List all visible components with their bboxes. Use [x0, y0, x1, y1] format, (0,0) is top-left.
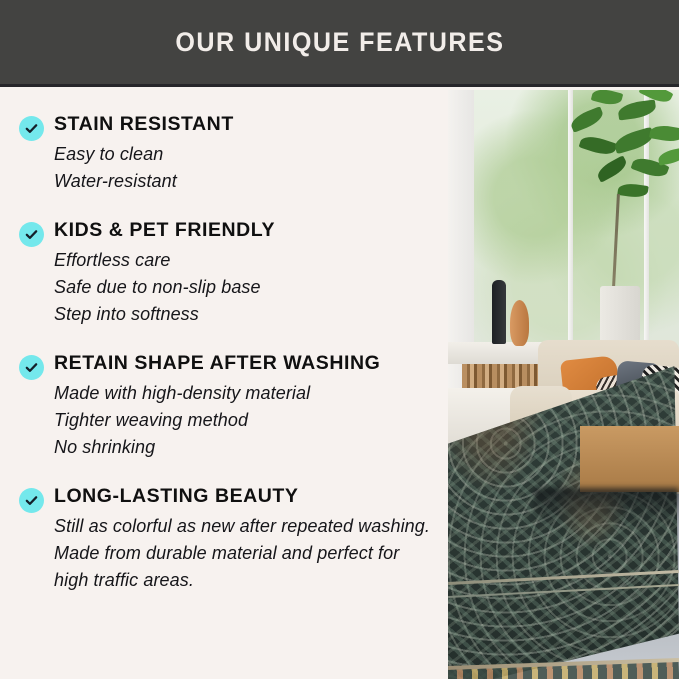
black-vase [492, 280, 506, 344]
plant-pot [600, 286, 640, 346]
feature-line: No shrinking [54, 434, 448, 461]
feature-line: Made with high-density material [54, 380, 448, 407]
feature-line: Water-resistant [54, 168, 448, 195]
feature-item-stain-resistant: STAIN RESISTANT Easy to clean Water-resi… [0, 114, 448, 194]
feature-line: Easy to clean [54, 141, 448, 168]
check-circle-icon [19, 355, 44, 380]
terracotta-vase [510, 300, 529, 346]
header-banner: OUR UNIQUE FEATURES [0, 0, 679, 87]
sofa-shadow [534, 488, 679, 528]
feature-heading: KIDS & PET FRIENDLY [54, 220, 448, 241]
feature-heading: LONG-LASTING BEAUTY [54, 486, 448, 507]
living-room-rug-photo [448, 90, 679, 679]
feature-infographic-page: OUR UNIQUE FEATURES STAIN RESISTANT Easy… [0, 0, 679, 679]
feature-line: Effortless care [54, 247, 448, 274]
feature-paragraph: Still as colorful as new after repeated … [54, 513, 434, 593]
feature-line: Safe due to non-slip base [54, 274, 448, 301]
feature-item-kids-pet-friendly: KIDS & PET FRIENDLY Effortless care Safe… [0, 220, 448, 327]
feature-heading: STAIN RESISTANT [54, 114, 448, 135]
feature-heading: RETAIN SHAPE AFTER WASHING [54, 353, 448, 374]
features-list: STAIN RESISTANT Easy to clean Water-resi… [0, 90, 448, 679]
check-circle-icon [19, 222, 44, 247]
feature-line: Tighter weaving method [54, 407, 448, 434]
check-circle-icon [19, 488, 44, 513]
page-title: OUR UNIQUE FEATURES [175, 27, 504, 58]
feature-item-retain-shape: RETAIN SHAPE AFTER WASHING Made with hig… [0, 353, 448, 460]
feature-item-long-lasting-beauty: LONG-LASTING BEAUTY Still as colorful as… [0, 486, 448, 593]
feature-line: Step into softness [54, 301, 448, 328]
wooden-furniture-edge [580, 426, 679, 492]
plant-foliage [566, 90, 679, 216]
check-circle-icon [19, 116, 44, 141]
